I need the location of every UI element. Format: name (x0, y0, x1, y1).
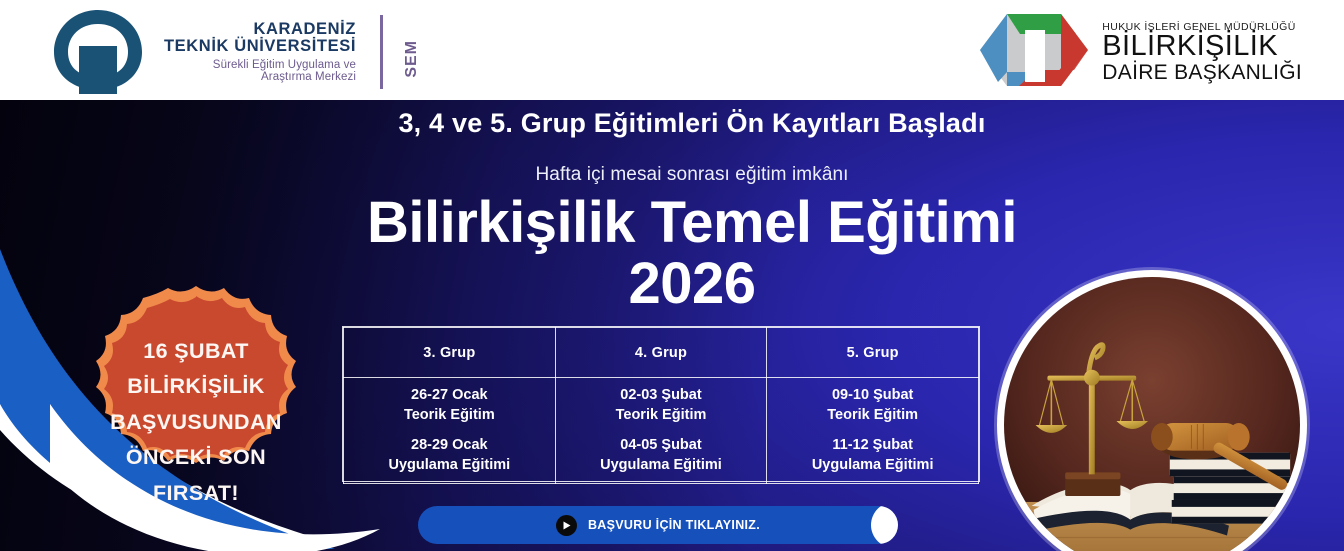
practice-label-1: Uygulama Eğitimi (348, 456, 551, 476)
table-row: 26-27 Ocak Teorik Eğitim 28-29 Ocak Uygu… (344, 378, 979, 484)
group-header-2: 4. Grup (555, 328, 767, 378)
practice-date-1: 28-29 Ocak (348, 436, 551, 456)
bilirkisilik-logo-block: HUKUK İŞLERİ GENEL MÜDÜRLÜĞÜ BİLİRKİŞİLİ… (974, 4, 1302, 96)
promo-banner: 3, 4 ve 5. Grup Eğitimleri Ön Kayıtları … (0, 100, 1344, 551)
ktu-line3: Sürekli Eğitim Uygulama ve (213, 59, 356, 71)
cell-spacer (771, 425, 974, 436)
ktu-line2: TEKNİK ÜNİVERSİTESİ (164, 38, 356, 56)
apply-button-label: BAŞVURU İÇİN TIKLAYINIZ. (588, 518, 760, 532)
ktu-line4: Araştırma Merkezi (261, 71, 356, 83)
deadline-badge: 16 ŞUBAT BİLİRKİŞİLİK BAŞVUSUNDAN ÖNCEKİ… (62, 283, 330, 551)
bilirkisilik-line3: DAİRE BAŞKANLIĞI (1102, 62, 1302, 84)
theory-label-1: Teorik Eğitim (348, 406, 551, 426)
ktu-emblem-icon (46, 6, 150, 94)
hexagon-logo-icon (974, 4, 1094, 96)
badge-line-3: BAŞVUSUNDAN (110, 411, 282, 434)
banner-kicker: 3, 4 ve 5. Grup Eğitimleri Ön Kayıtları … (0, 108, 1344, 139)
bilirkisilik-text-block: HUKUK İŞLERİ GENEL MÜDÜRLÜĞÜ BİLİRKİŞİLİ… (1102, 16, 1302, 84)
bilirkisilik-line2: BİLİRKİŞİLİK (1102, 32, 1302, 62)
table-header-row: 3. Grup 4. Grup 5. Grup (344, 328, 979, 378)
ktu-text-block: KARADENİZ TEKNİK ÜNİVERSİTESİ Sürekli Eğ… (164, 17, 356, 84)
theory-label-2: Teorik Eğitim (560, 406, 763, 426)
theory-date-1: 26-27 Ocak (348, 386, 551, 406)
play-icon (556, 515, 577, 536)
theory-date-2: 02-03 Şubat (560, 386, 763, 406)
badge-text-block: 16 ŞUBAT BİLİRKİŞİLİK BAŞVUSUNDAN ÖNCEKİ… (62, 283, 330, 551)
justice-scales-gavel-books-photo (1004, 277, 1300, 551)
practice-date-3: 11-12 Şubat (771, 436, 974, 456)
schedule-table: 3. Grup 4. Grup 5. Grup 26-27 Ocak Teori… (342, 326, 980, 482)
badge-line-4: ÖNCEKİ SON (126, 446, 266, 469)
banner-subtitle: Hafta içi mesai sonrası eğitim imkânı (0, 164, 1344, 186)
page-header: KARADENİZ TEKNİK ÜNİVERSİTESİ Sürekli Eğ… (0, 0, 1344, 100)
sem-vertical-label: SEM (403, 40, 421, 78)
group-header-1: 3. Grup (344, 328, 556, 378)
cta-crescent-decoration (871, 506, 898, 544)
cell-spacer (560, 425, 763, 436)
practice-date-2: 04-05 Şubat (560, 436, 763, 456)
badge-line-2: BİLİRKİŞİLİK (127, 375, 264, 398)
ktu-logo-block: KARADENİZ TEKNİK ÜNİVERSİTESİ Sürekli Eğ… (46, 6, 421, 94)
cell-spacer (348, 425, 551, 436)
practice-label-3: Uygulama Eğitimi (771, 456, 974, 476)
theory-label-3: Teorik Eğitim (771, 406, 974, 426)
ktu-line1: KARADENİZ (253, 21, 356, 39)
theory-date-3: 09-10 Şubat (771, 386, 974, 406)
apply-button[interactable]: BAŞVURU İÇİN TIKLAYINIZ. (418, 506, 898, 544)
badge-line-5: FIRSAT! (153, 482, 239, 505)
group-cell-1: 26-27 Ocak Teorik Eğitim 28-29 Ocak Uygu… (344, 378, 556, 484)
practice-label-2: Uygulama Eğitimi (560, 456, 763, 476)
banner-page: KARADENİZ TEKNİK ÜNİVERSİTESİ Sürekli Eğ… (0, 0, 1344, 551)
group-cell-2: 02-03 Şubat Teorik Eğitim 04-05 Şubat Uy… (555, 378, 767, 484)
banner-title: Bilirkişilik Temel Eğitimi (0, 194, 1344, 252)
group-header-3: 5. Grup (767, 328, 979, 378)
group-cell-3: 09-10 Şubat Teorik Eğitim 11-12 Şubat Uy… (767, 378, 979, 484)
badge-line-1: 16 ŞUBAT (143, 340, 249, 363)
header-divider (380, 15, 383, 89)
